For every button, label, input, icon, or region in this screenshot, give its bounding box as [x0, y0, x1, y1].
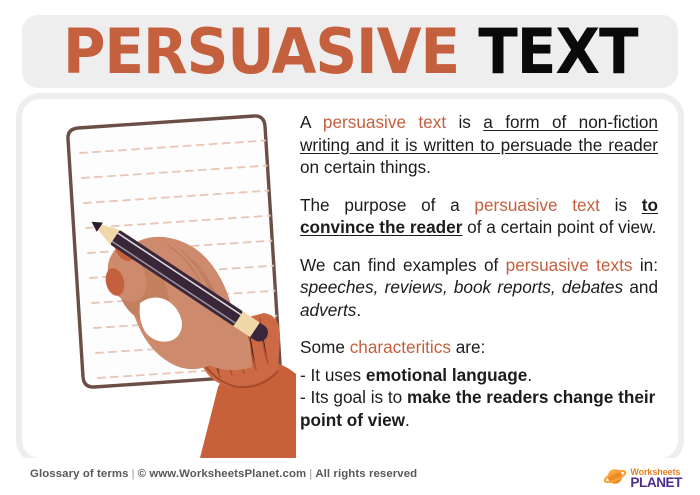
- p3-seg5: and: [623, 277, 658, 297]
- bullet1-bold: emotional language: [366, 365, 527, 385]
- footer-bar: Glossary of terms|© www.WorksheetsPlanet…: [0, 458, 700, 495]
- p1-seg1: A: [300, 112, 323, 132]
- p1-seg5: on certain things.: [300, 157, 431, 177]
- paragraph-examples: We can find examples of persuasive texts…: [300, 254, 658, 322]
- characteristic-bullet-1: - It uses emotional language.: [300, 364, 658, 387]
- logo-word-planet: PLANET: [630, 476, 682, 490]
- footer-rights-label: All rights reserved: [315, 468, 417, 480]
- p4-term-characteritics: characteritics: [350, 337, 451, 357]
- footer-separator-2: |: [306, 468, 315, 480]
- footer-website-link[interactable]: www.WorksheetsPlanet.com: [149, 468, 306, 480]
- footer-separator-1: |: [129, 468, 138, 480]
- bullet1-prefix: - It uses: [300, 365, 366, 385]
- p3-seg3: in:: [632, 255, 658, 275]
- footer-credits: Glossary of terms|© www.WorksheetsPlanet…: [30, 468, 417, 480]
- p2-term-persuasive-text: persuasive text: [474, 195, 600, 215]
- p1-term-persuasive-text: persuasive text: [323, 112, 446, 132]
- title-space: [459, 15, 478, 88]
- p3-examples-list-2: adverts: [300, 300, 356, 320]
- bullet1-suffix: .: [527, 365, 532, 385]
- illustration-hand-writing: [22, 99, 296, 458]
- title-word-text: TEXT: [478, 15, 637, 88]
- page-title: PERSUASIVE TEXT: [56, 21, 643, 83]
- title-bar: PERSUASIVE TEXT: [22, 15, 678, 88]
- characteristics-heading: Some characteritics are:: [300, 336, 658, 359]
- p4-heading-seg3: are:: [451, 337, 485, 357]
- characteristic-bullet-2: - Its goal is to make the readers change…: [300, 386, 658, 431]
- worksheets-planet-logo[interactable]: Worksheets PLANET: [604, 466, 682, 492]
- text-content-column: A persuasive text is a form of non-ficti…: [300, 111, 668, 458]
- paragraph-definition: A persuasive text is a form of non-ficti…: [300, 111, 658, 179]
- content-card: A persuasive text is a form of non-ficti…: [22, 99, 678, 458]
- footer-glossary-label: Glossary of terms: [30, 468, 129, 480]
- infographic-page: PERSUASIVE TEXT: [0, 0, 700, 495]
- p2-seg1: The purpose of a: [300, 195, 474, 215]
- bullet2-prefix: - Its goal is to: [300, 387, 407, 407]
- p3-seg1: We can find examples of: [300, 255, 506, 275]
- p3-term-persuasive-texts: persuasive texts: [506, 255, 633, 275]
- paragraph-purpose: The purpose of a persuasive text is to c…: [300, 194, 658, 239]
- p3-seg7: .: [356, 300, 361, 320]
- title-word-persuasive: PERSUASIVE: [63, 15, 459, 88]
- paragraph-characteristics: Some characteritics are: - It uses emoti…: [300, 336, 658, 431]
- p2-seg3: is: [600, 195, 642, 215]
- planet-icon: [604, 466, 627, 492]
- bullet2-suffix: .: [405, 410, 410, 430]
- footer-copyright-icon: ©: [138, 468, 147, 480]
- p2-seg5: of a certain point of view.: [462, 217, 656, 237]
- p1-seg3: is: [446, 112, 483, 132]
- p3-examples-list-1: speeches, reviews, book reports, debates: [300, 277, 623, 297]
- p4-heading-seg1: Some: [300, 337, 350, 357]
- logo-wordmark: Worksheets PLANET: [630, 468, 682, 490]
